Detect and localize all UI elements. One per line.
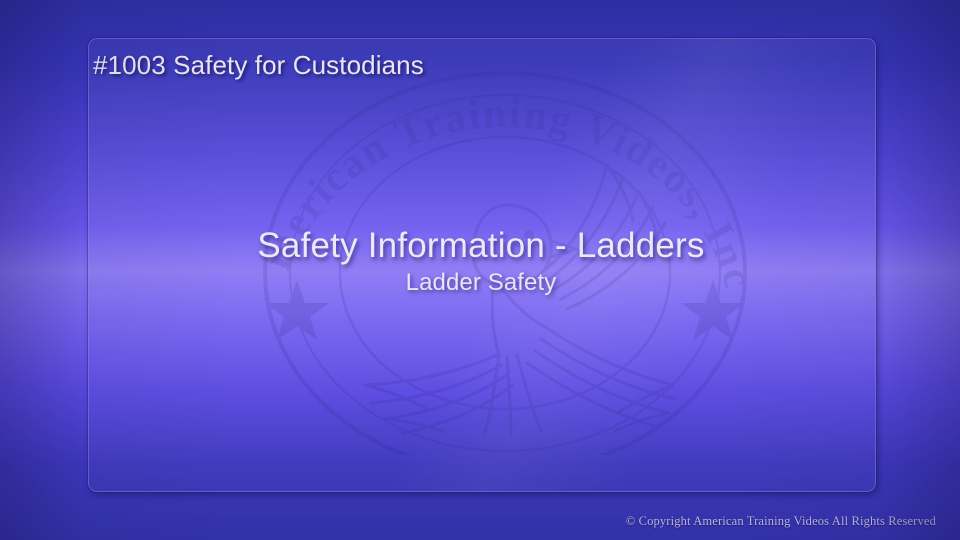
sub-title: Ladder Safety	[88, 269, 874, 297]
main-title: Safety Information - Ladders	[88, 228, 874, 263]
copyright-notice: © Copyright American Training Videos All…	[626, 514, 936, 529]
video-title-slide: American Training Videos, Inc.	[0, 0, 960, 540]
title-block: Safety Information - Ladders Ladder Safe…	[88, 228, 874, 297]
program-header-title: #1003 Safety for Custodians	[93, 50, 424, 81]
